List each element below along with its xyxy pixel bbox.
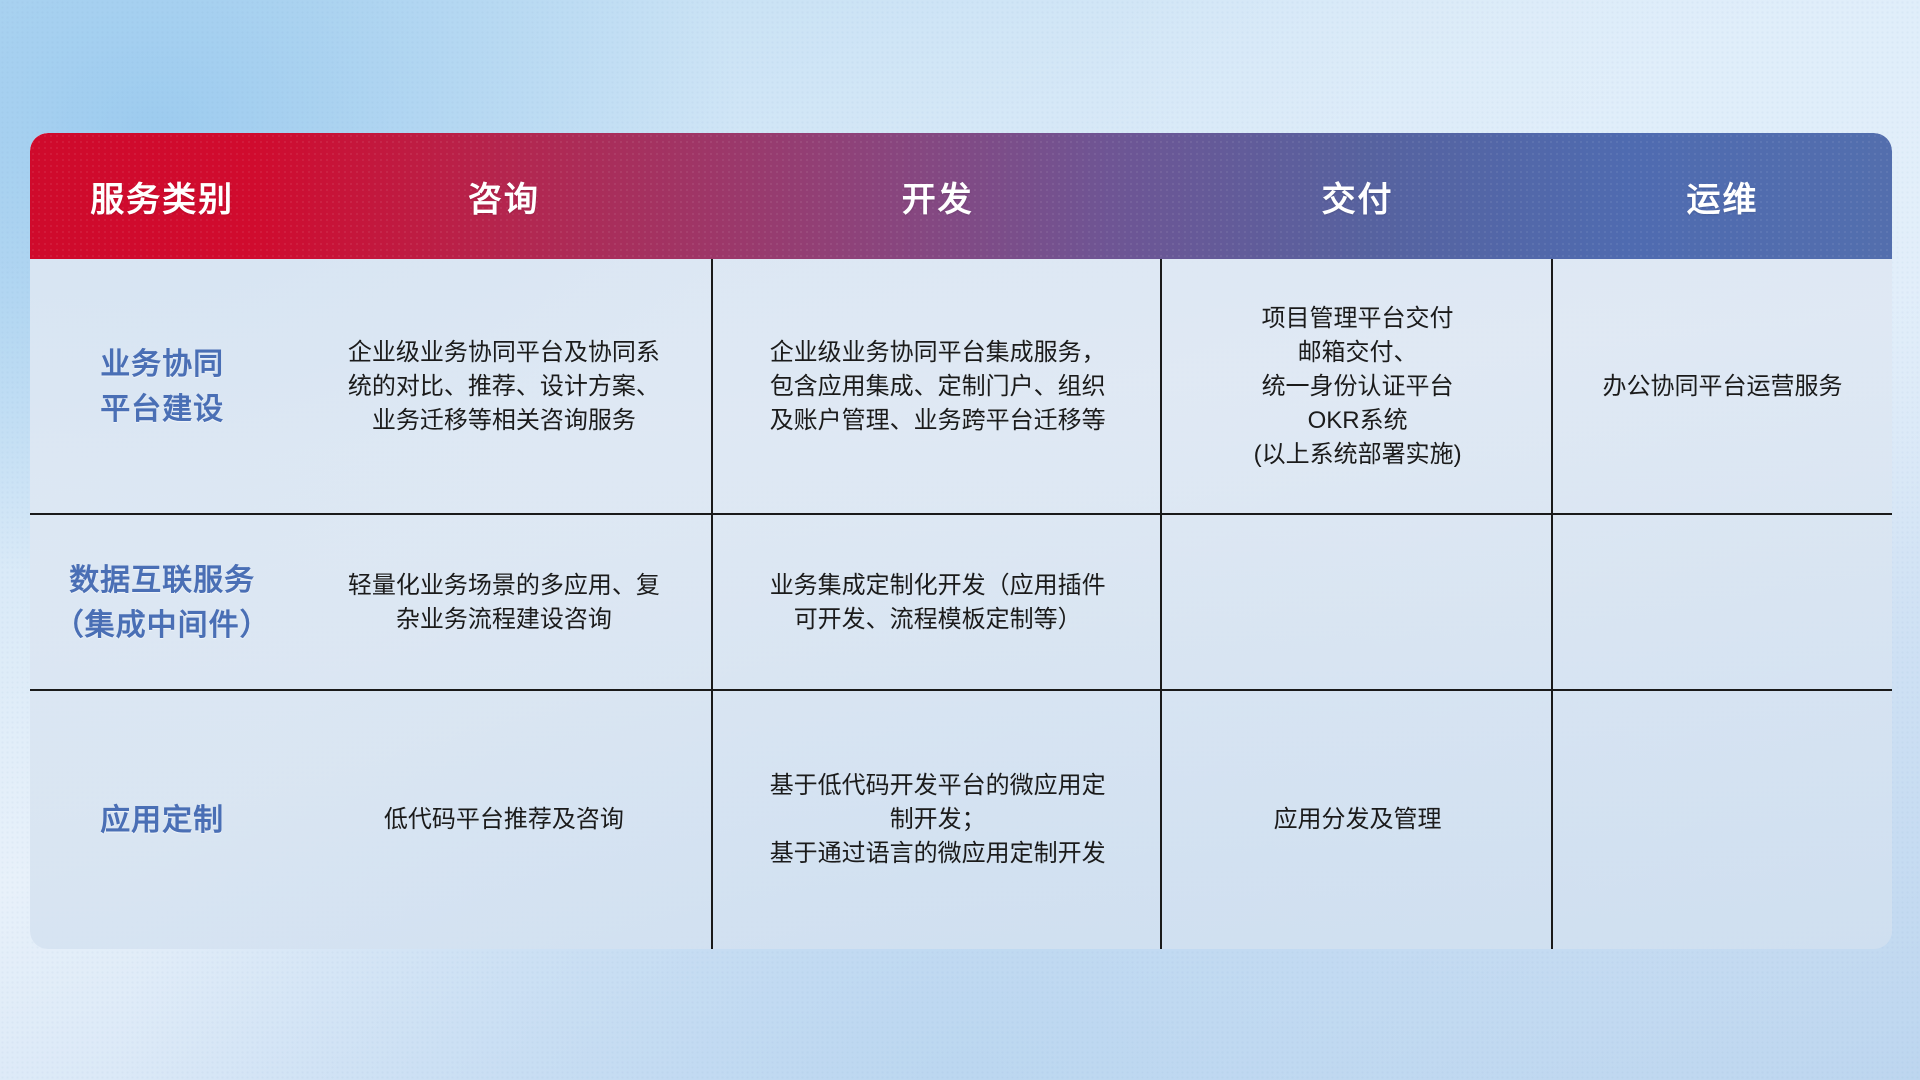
table-body: 业务协同 平台建设 企业级业务协同平台及协同系 统的对比、推荐、设计方案、 业务… (30, 259, 1892, 949)
cell-operations: 办公协同平台运营服务 (1553, 259, 1892, 515)
column-header-operations: 运维 (1553, 133, 1892, 259)
cell-consulting: 轻量化业务场景的多应用、复 杂业务流程建设咨询 (294, 515, 713, 691)
column-header-consulting: 咨询 (294, 133, 713, 259)
cell-operations (1553, 515, 1892, 691)
cell-consulting: 企业级业务协同平台及协同系 统的对比、推荐、设计方案、 业务迁移等相关咨询服务 (294, 259, 713, 515)
cell-development: 基于低代码开发平台的微应用定 制开发； 基于通过语言的微应用定制开发 (713, 691, 1162, 949)
row-category-label: 应用定制 (30, 691, 294, 949)
cell-operations (1553, 691, 1892, 949)
column-header-development: 开发 (713, 133, 1162, 259)
cell-delivery: 项目管理平台交付 邮箱交付、 统一身份认证平台 OKR系统 (以上系统部署实施) (1162, 259, 1553, 515)
table-row: 业务协同 平台建设 企业级业务协同平台及协同系 统的对比、推荐、设计方案、 业务… (30, 259, 1892, 515)
row-category-label: 业务协同 平台建设 (30, 259, 294, 515)
row-category-label: 数据互联服务 （集成中间件） (30, 515, 294, 691)
cell-consulting: 低代码平台推荐及咨询 (294, 691, 713, 949)
service-matrix-table: 服务类别 咨询 开发 交付 运维 业务协同 平台建设 企业级业务协同平台及协同系… (30, 133, 1892, 949)
cell-delivery: 应用分发及管理 (1162, 691, 1553, 949)
table-header-row: 服务类别 咨询 开发 交付 运维 (30, 133, 1892, 259)
table-row: 应用定制 低代码平台推荐及咨询 基于低代码开发平台的微应用定 制开发； 基于通过… (30, 691, 1892, 949)
column-header-delivery: 交付 (1162, 133, 1553, 259)
table-row: 数据互联服务 （集成中间件） 轻量化业务场景的多应用、复 杂业务流程建设咨询 业… (30, 515, 1892, 691)
cell-delivery (1162, 515, 1553, 691)
cell-development: 业务集成定制化开发（应用插件 可开发、流程模板定制等） (713, 515, 1162, 691)
column-header-category: 服务类别 (30, 133, 294, 259)
cell-development: 企业级业务协同平台集成服务， 包含应用集成、定制门户、组织 及账户管理、业务跨平… (713, 259, 1162, 515)
